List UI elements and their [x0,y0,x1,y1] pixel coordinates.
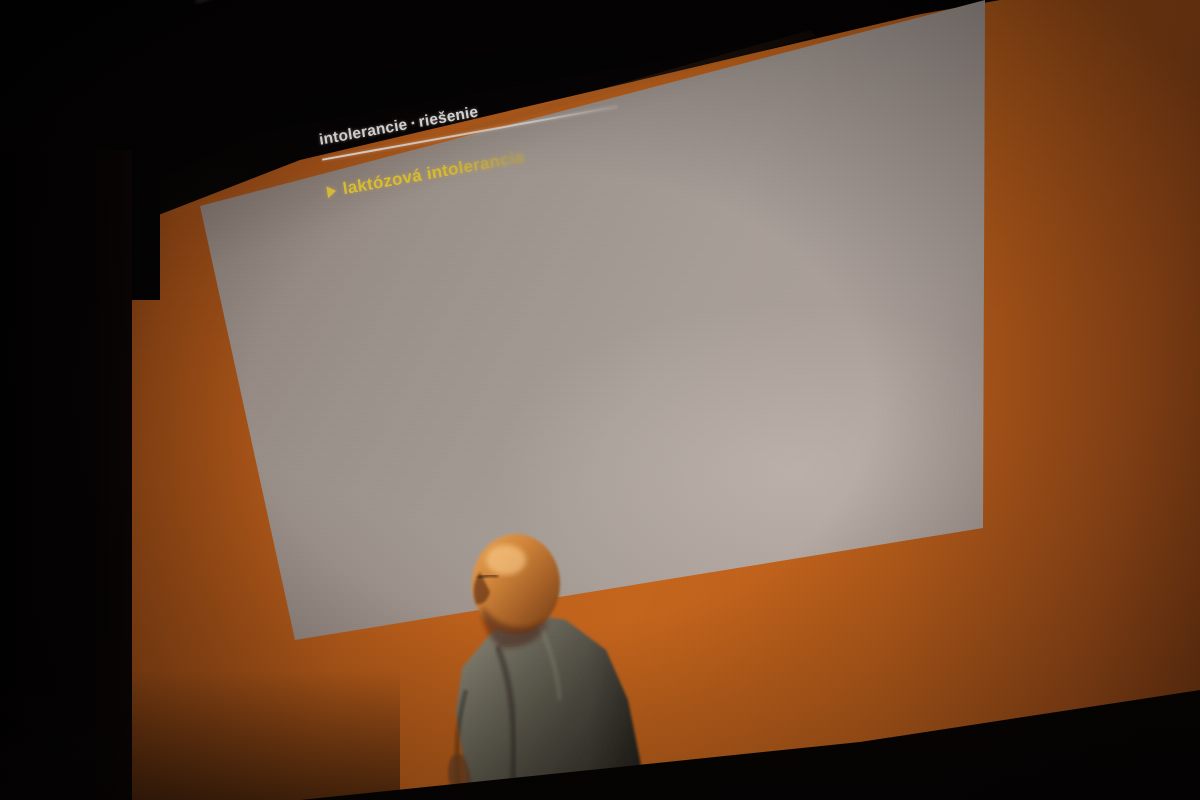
dark-floor-left [0,670,400,800]
triangle-bullet-icon [326,184,337,197]
presentation-photo: intolerancie▪riešenie laktózová intolera… [0,0,1200,800]
slide-title-separator-icon: ▪ [410,118,415,130]
